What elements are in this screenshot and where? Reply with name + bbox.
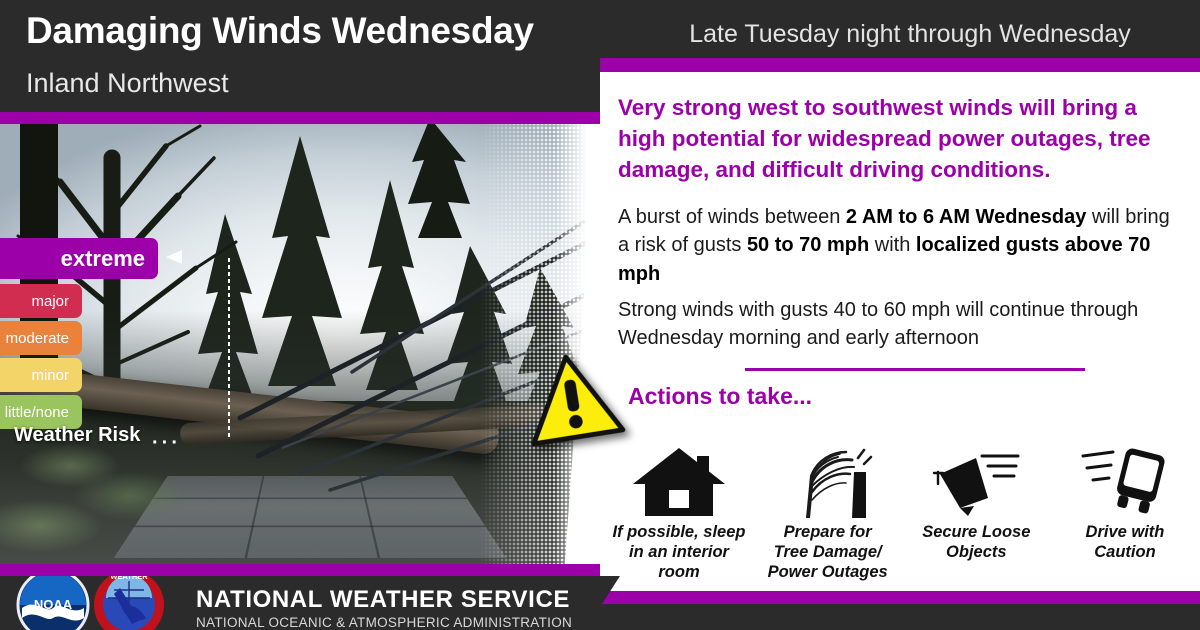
noaa-seal: NOAA (16, 568, 90, 630)
footer-bar-left: NOAA WEATHER NATIONAL WEATHER SERVICE NA… (0, 576, 660, 630)
risk-level-major: major (0, 284, 82, 318)
risk-level-label: major (31, 293, 69, 310)
weather-risk-label: Weather Risk (14, 424, 140, 447)
wind-blown-tree-icon (782, 440, 874, 518)
house-icon (631, 440, 727, 518)
action-caption: If possible, sleep in an interior room (608, 522, 750, 582)
risk-level-label: minor (31, 367, 69, 384)
header-accent-bar-right (600, 58, 1200, 72)
footer-accent-bar-right (597, 591, 1200, 604)
action-caption: Drive with Caution (1086, 522, 1165, 562)
agency-name: NATIONAL WEATHER SERVICE (196, 586, 572, 614)
nws-wordmark: NATIONAL WEATHER SERVICE NATIONAL OCEANI… (196, 586, 572, 630)
page-title: Damaging Winds Wednesday (26, 10, 534, 52)
headline-statement: Very strong west to southwest winds will… (618, 92, 1178, 185)
action-item: Secure Loose Objects (905, 440, 1047, 562)
risk-level-moderate: moderate (0, 321, 82, 355)
exclamation-triangle-icon (518, 345, 627, 449)
risk-level-minor: minor (0, 358, 82, 392)
burst-gust-range: 50 to 70 mph (747, 234, 869, 256)
wind-burst-paragraph: A burst of winds between 2 AM to 6 AM We… (618, 203, 1180, 288)
tipping-vehicle-icon (1079, 440, 1171, 518)
continuing-winds-paragraph: Strong winds with gusts 40 to 60 mph wil… (618, 296, 1180, 353)
section-divider (745, 368, 1085, 371)
risk-level-extreme: extreme (0, 238, 158, 279)
graphic-canvas: Damaging Winds Wednesday Inland Northwes… (0, 0, 1200, 630)
risk-level-label: extreme (61, 246, 145, 272)
burst-text-1: A burst of winds between (618, 206, 846, 228)
timeframe-label: Late Tuesday night through Wednesday (640, 20, 1180, 49)
action-caption: Secure Loose Objects (922, 522, 1030, 562)
burst-time-range: 2 AM to 6 AM Wednesday (846, 206, 1086, 228)
nws-seal: WEATHER (92, 568, 166, 630)
burst-text-3: with (869, 234, 916, 256)
action-item: Prepare for Tree Damage/ Power Outages (757, 440, 899, 582)
actions-heading: Actions to take... (628, 383, 812, 410)
footer-accent-bar (0, 564, 600, 576)
action-item: If possible, sleep in an interior room (608, 440, 750, 582)
risk-level-label: moderate (6, 330, 69, 347)
risk-leader-dots: ··· (152, 432, 181, 455)
action-caption: Prepare for Tree Damage/ Power Outages (768, 522, 888, 582)
action-item: Drive with Caution (1054, 440, 1196, 562)
administration-name: NATIONAL OCEANIC & ATMOSPHERIC ADMINISTR… (196, 615, 572, 630)
risk-leader-line (228, 258, 230, 438)
tent-awning-icon (930, 440, 1022, 518)
footer-bar-right (597, 604, 1200, 630)
risk-level-label: little/none (5, 404, 69, 421)
header-accent-bar-left (0, 112, 600, 124)
actions-icon-row: If possible, sleep in an interior room (608, 440, 1196, 590)
weather-risk-scale: extreme major moderate minor little/none (0, 238, 175, 432)
region-subtitle: Inland Northwest (26, 68, 229, 99)
risk-pointer-icon (162, 248, 184, 266)
svg-text:NOAA: NOAA (34, 597, 73, 612)
